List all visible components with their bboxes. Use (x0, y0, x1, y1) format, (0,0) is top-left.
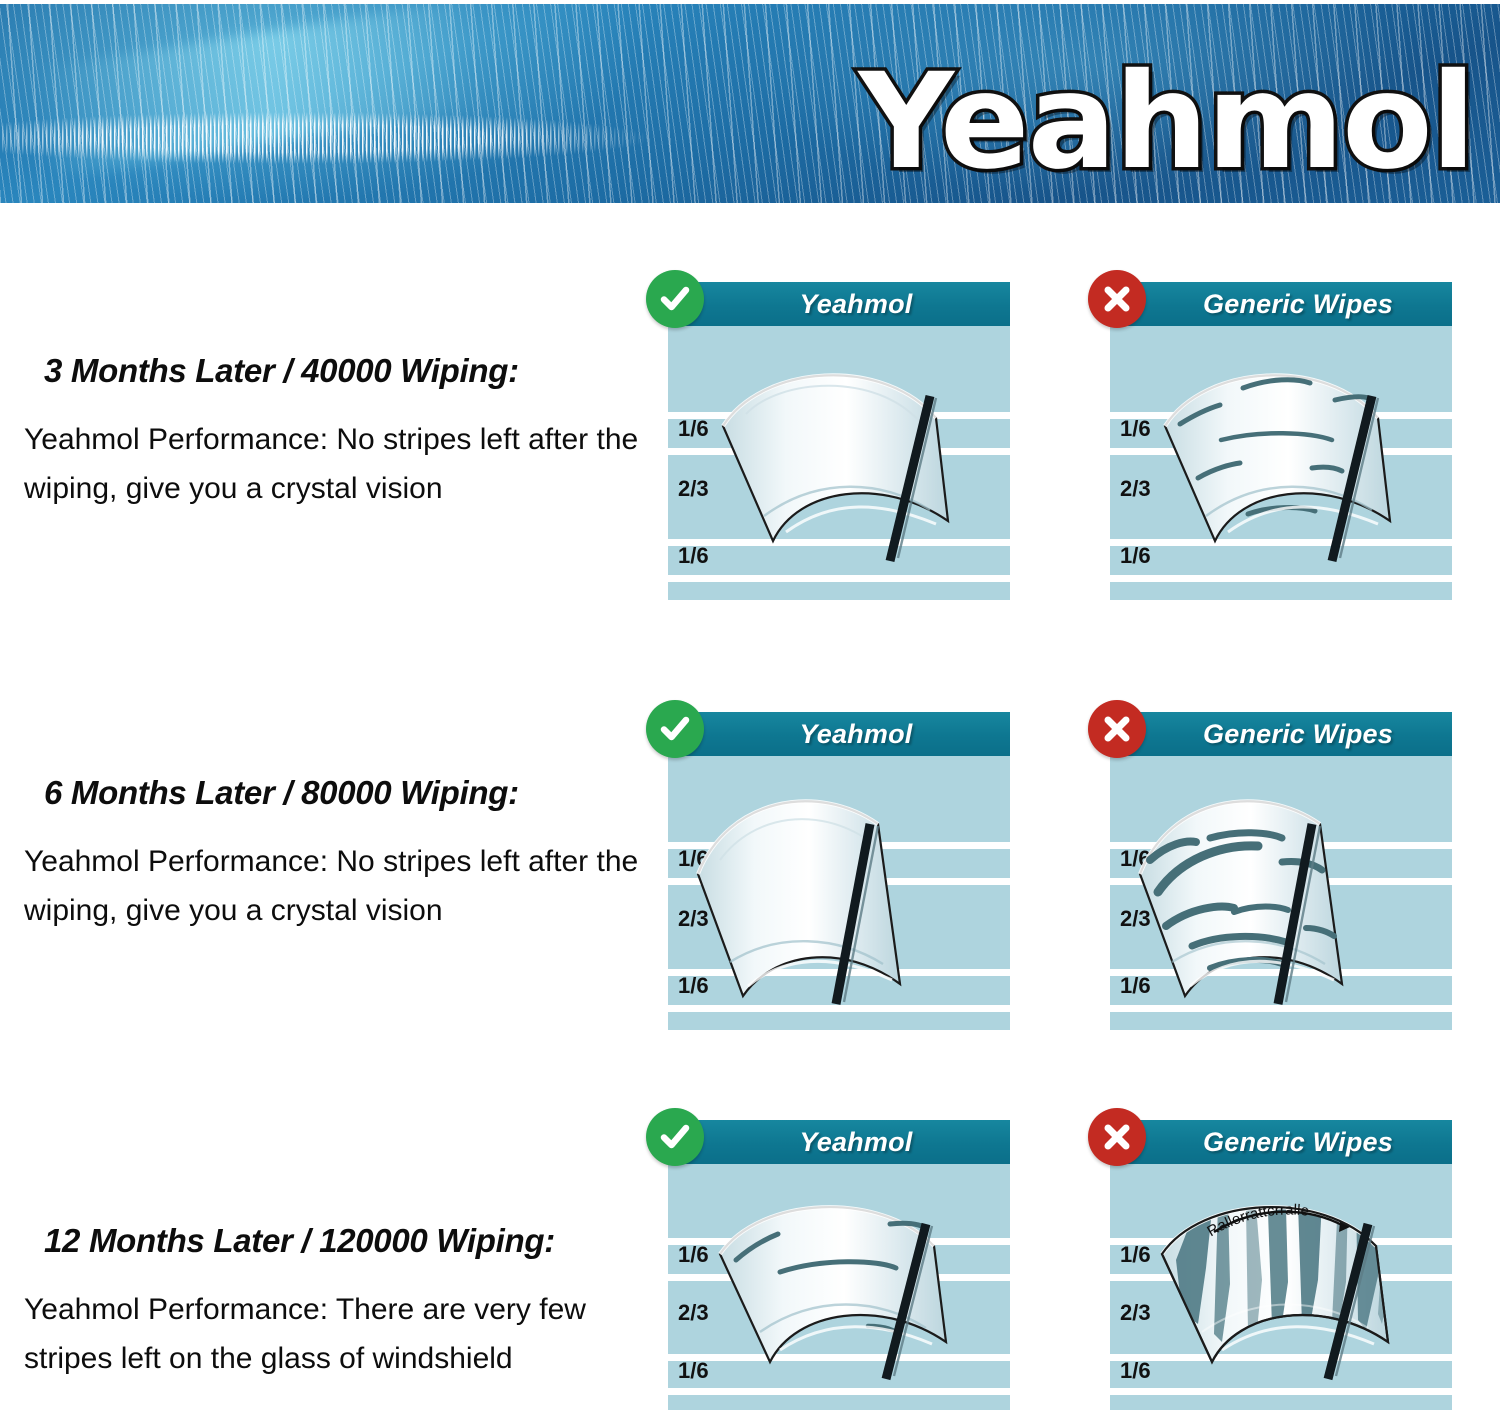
comparison-row-3-months: 3 Months Later / 40000 Wiping: Yeahmol P… (0, 282, 1500, 602)
generic-wipes-panel: Generic Wipes 1/6 2/3 1/6 (1110, 1120, 1452, 1410)
row-heading: 3 Months Later / 40000 Wiping: (44, 352, 664, 390)
yeahmol-panel: Yeahmol 1/6 2/3 1/6 (668, 712, 1010, 1030)
generic-wipes-panel: Generic Wipes 1/6 2/3 1/6 (1110, 712, 1452, 1030)
generic-wipes-panel: Generic Wipes 1/6 2/3 1/6 (1110, 282, 1452, 600)
panel-body: 1/6 2/3 1/6 (668, 756, 1010, 1030)
x-circle-icon (1088, 1108, 1146, 1166)
yeahmol-panel: Yeahmol 1/6 2/3 1/6 (668, 282, 1010, 600)
row-body-text: Yeahmol Performance: No stripes left aft… (24, 416, 674, 513)
check-circle-icon (646, 700, 704, 758)
row-text-block: 6 Months Later / 80000 Wiping: Yeahmol P… (24, 774, 664, 935)
panel-header: Yeahmol (668, 282, 1010, 326)
panel-title: Generic Wipes (1169, 1127, 1393, 1158)
row-text-block: 3 Months Later / 40000 Wiping: Yeahmol P… (24, 352, 664, 513)
panel-body: 1/6 2/3 1/6 (668, 1164, 1010, 1410)
panel-header: Generic Wipes (1110, 1120, 1452, 1164)
x-circle-icon (1088, 700, 1146, 758)
panel-body: 1/6 2/3 1/6 (1110, 1164, 1452, 1410)
panel-body: 1/6 2/3 1/6 (668, 326, 1010, 600)
panel-header: Generic Wipes (1110, 282, 1452, 326)
windshield-wipe-arc (668, 326, 1010, 600)
panel-header: Generic Wipes (1110, 712, 1452, 756)
check-circle-icon (646, 1108, 704, 1166)
comparison-row-12-months: 12 Months Later / 120000 Wiping: Yeahmol… (0, 1120, 1500, 1412)
panel-title: Generic Wipes (1169, 719, 1393, 750)
check-circle-icon (646, 270, 704, 328)
windshield-wipe-arc-smeared: Rallerrattcrralle (1110, 1164, 1452, 1410)
yeahmol-panel: Yeahmol 1/6 2/3 1/6 (668, 1120, 1010, 1410)
row-body-text: Yeahmol Performance: No stripes left aft… (24, 838, 674, 935)
row-text-block: 12 Months Later / 120000 Wiping: Yeahmol… (24, 1222, 664, 1383)
panel-header: Yeahmol (668, 1120, 1010, 1164)
panel-title: Yeahmol (766, 289, 913, 320)
panel-title: Yeahmol (766, 1127, 913, 1158)
comparison-row-6-months: 6 Months Later / 80000 Wiping: Yeahmol P… (0, 712, 1500, 1032)
panel-title: Generic Wipes (1169, 289, 1393, 320)
row-heading: 12 Months Later / 120000 Wiping: (44, 1222, 664, 1260)
panel-title: Yeahmol (766, 719, 913, 750)
windshield-wipe-arc-streaked (1110, 756, 1452, 1030)
header-banner: Yeahmol (0, 4, 1500, 203)
row-body-text: Yeahmol Performance: There are very few … (24, 1286, 674, 1383)
windshield-wipe-arc-streaked (1110, 326, 1452, 600)
panel-body: 1/6 2/3 1/6 (1110, 326, 1452, 600)
windshield-wipe-arc-few-streaks (668, 1164, 1010, 1410)
windshield-wipe-arc (668, 756, 1010, 1030)
row-heading: 6 Months Later / 80000 Wiping: (44, 774, 664, 812)
panel-header: Yeahmol (668, 712, 1010, 756)
waveform-graphic (0, 108, 710, 168)
panel-body: 1/6 2/3 1/6 (1110, 756, 1452, 1030)
x-circle-icon (1088, 270, 1146, 328)
brand-logo-text: Yeahmol (858, 56, 1474, 188)
